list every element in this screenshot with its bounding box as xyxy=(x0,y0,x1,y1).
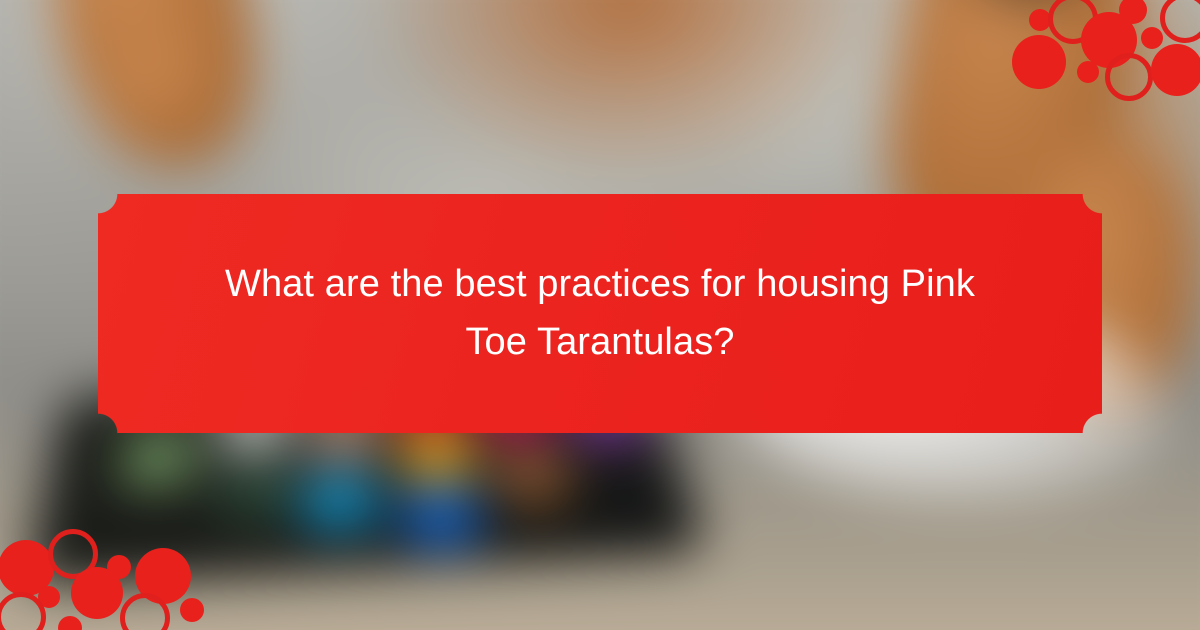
background-hand-left xyxy=(90,10,240,160)
tray-well xyxy=(582,465,672,524)
decorative-ring xyxy=(123,596,168,630)
decorative-ring xyxy=(1163,0,1200,41)
decorative-dot xyxy=(1141,27,1163,49)
tray-well xyxy=(491,448,576,505)
tray-well xyxy=(302,471,380,531)
tray-well xyxy=(400,485,484,546)
tray-well xyxy=(399,428,478,483)
decorative-dot xyxy=(1151,44,1200,96)
decorative-dot xyxy=(1029,9,1051,31)
tray-well xyxy=(117,430,197,485)
decorative-dot xyxy=(1012,35,1066,89)
page-title: What are the best practices for housing … xyxy=(200,256,1000,372)
decorative-dot xyxy=(180,598,204,622)
decorative-dots-bottom-left xyxy=(0,510,240,630)
social-share-card: What are the best practices for housing … xyxy=(0,0,1200,630)
headline-banner: What are the best practices for housing … xyxy=(98,194,1102,433)
decorative-dot xyxy=(1081,12,1137,68)
decorative-dot xyxy=(71,567,123,619)
decorative-dot xyxy=(1077,61,1099,83)
decorative-dots-top-right xyxy=(1000,0,1200,110)
decorative-ring xyxy=(1108,56,1151,99)
decorative-ring xyxy=(0,595,44,630)
decorative-dot xyxy=(58,616,82,630)
